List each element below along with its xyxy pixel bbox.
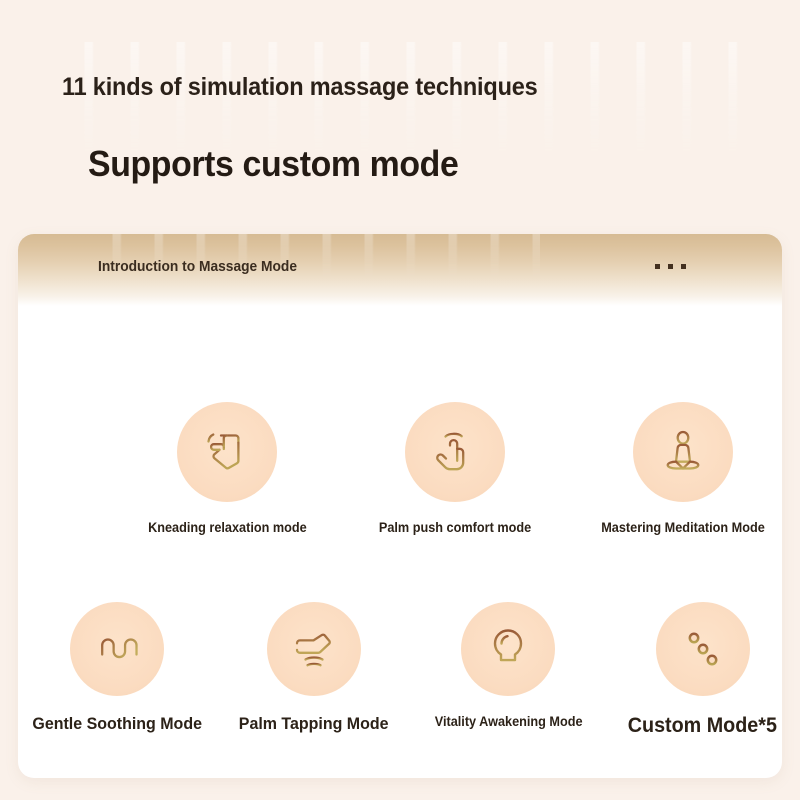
mode-item-label: Custom Mode*5: [628, 714, 777, 738]
mode-item-gentle-soothing[interactable]: Gentle Soothing Mode: [36, 602, 198, 738]
more-dot: [655, 264, 660, 269]
mode-item-vitality-awakening[interactable]: Vitality Awakening Mode: [429, 602, 587, 738]
mode-item-label: Mastering Meditation Mode: [601, 520, 765, 535]
mode-item-mastering-meditation[interactable]: Mastering Meditation Mode: [602, 402, 764, 535]
mode-item-label: Kneading relaxation mode: [148, 520, 307, 535]
more-horizontal-icon[interactable]: [655, 264, 686, 269]
headline-secondary: Supports custom mode: [88, 143, 458, 185]
card-header: Introduction to Massage Mode: [18, 234, 782, 306]
square-wave-icon: [89, 621, 145, 677]
more-dot: [681, 264, 686, 269]
mode-item-kneading-relaxation[interactable]: Kneading relaxation mode: [146, 402, 308, 535]
tapping-palm-icon: [286, 621, 342, 677]
mode-item-palm-push-comfort[interactable]: Palm push comfort mode: [374, 402, 536, 535]
mode-item-label: Gentle Soothing Mode: [32, 714, 202, 734]
mode-icon-bubble: [633, 402, 733, 502]
headline-primary: 11 kinds of simulation massage technique…: [62, 73, 538, 102]
mode-icon-bubble: [267, 602, 361, 696]
mode-item-label: Palm push comfort mode: [379, 520, 531, 535]
kneading-fist-icon: [199, 424, 255, 480]
meditation-lotus-icon: [655, 424, 711, 480]
lightbulb-icon: [480, 621, 536, 677]
mode-icon-bubble: [461, 602, 555, 696]
mode-item-custom-mode[interactable]: Custom Mode*5: [623, 602, 782, 738]
mode-icon-bubble: [656, 602, 750, 696]
mode-row-1: Kneading relaxation mode: [18, 402, 782, 535]
mode-icon-bubble: [177, 402, 277, 502]
mode-icon-bubble: [405, 402, 505, 502]
card-title: Introduction to Massage Mode: [98, 259, 297, 275]
massage-mode-card: Introduction to Massage Mode: [18, 234, 782, 778]
palm-push-hand-icon: [427, 424, 483, 480]
more-dot: [668, 264, 673, 269]
mode-icon-bubble: [70, 602, 164, 696]
sliders-icon: [675, 621, 731, 677]
mode-row-2: Gentle Soothing Mode: [18, 602, 782, 738]
mode-item-label: Palm Tapping Mode: [239, 714, 389, 734]
mode-item-palm-tapping[interactable]: Palm Tapping Mode: [234, 602, 393, 738]
mode-item-label: Vitality Awakening Mode: [434, 714, 582, 729]
